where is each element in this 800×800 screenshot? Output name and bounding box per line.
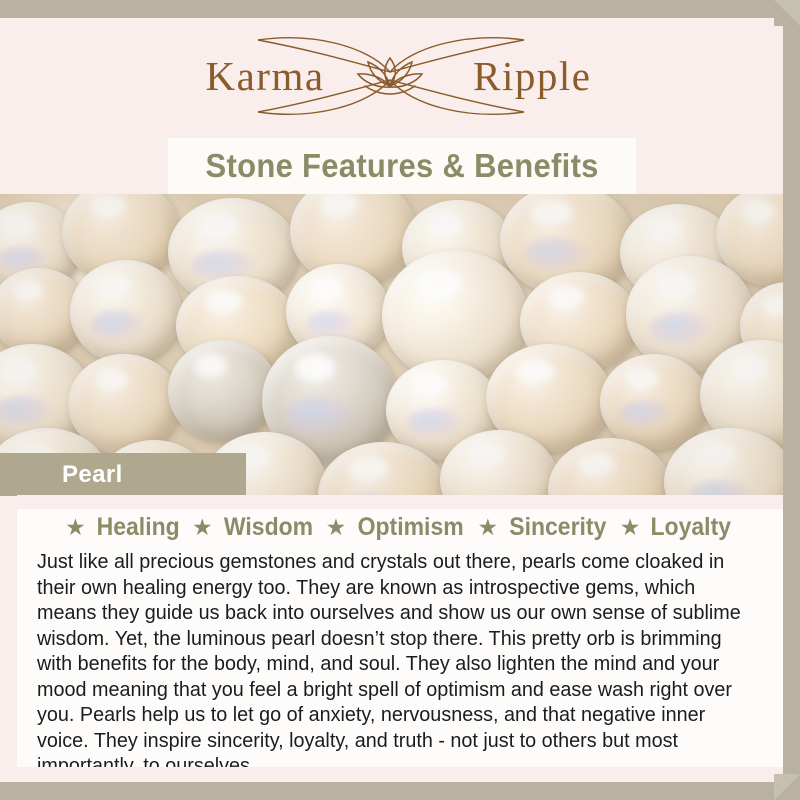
lotus-flower-icon [358,58,422,94]
stone-photo [0,194,783,495]
stone-name-tab: Pearl [0,453,246,496]
page-title: Stone Features & Benefits [205,147,598,185]
page-bottom-strip [0,767,783,782]
keyword-item-sincerity: ★ Sincerity [478,513,611,542]
star-icon: ★ [326,516,347,539]
brand-name-left: Karma [206,52,325,100]
stone-description: Just like all precious gemstones and cry… [37,549,741,779]
star-icon: ★ [620,516,641,539]
keyword-item-wisdom: ★ Wisdom [192,513,317,542]
keyword-label: Optimism [358,513,464,542]
corner-bevel-bottom-right [774,774,800,800]
star-icon: ★ [192,516,213,539]
section-title-banner: Stone Features & Benefits [168,138,636,194]
star-icon: ★ [65,516,86,539]
star-icon: ★ [478,516,499,539]
keyword-item-loyalty: ★ Loyalty [620,513,735,542]
corner-bevel-top-right [774,0,800,26]
content-panel: ★ Healing ★ Wisdom ★ Optimism ★ Sincerit… [17,495,783,767]
keyword-label: Sincerity [509,513,606,542]
keyword-label: Wisdom [223,513,312,542]
keyword-item-optimism: ★ Optimism [326,513,469,542]
keyword-item-healing: ★ Healing [65,513,183,542]
brand-logo: Karma Ripple [0,24,783,128]
panel-top-strip [17,495,783,509]
keyword-label: Healing [96,513,179,542]
keyword-label: Loyalty [651,513,732,542]
brand-name-right: Ripple [473,52,591,100]
stone-name: Pearl [62,461,123,489]
keyword-list: ★ Healing ★ Wisdom ★ Optimism ★ Sincerit… [17,513,783,542]
stone-info-card: Karma Ripple Stone Features & Benefits [0,0,800,800]
